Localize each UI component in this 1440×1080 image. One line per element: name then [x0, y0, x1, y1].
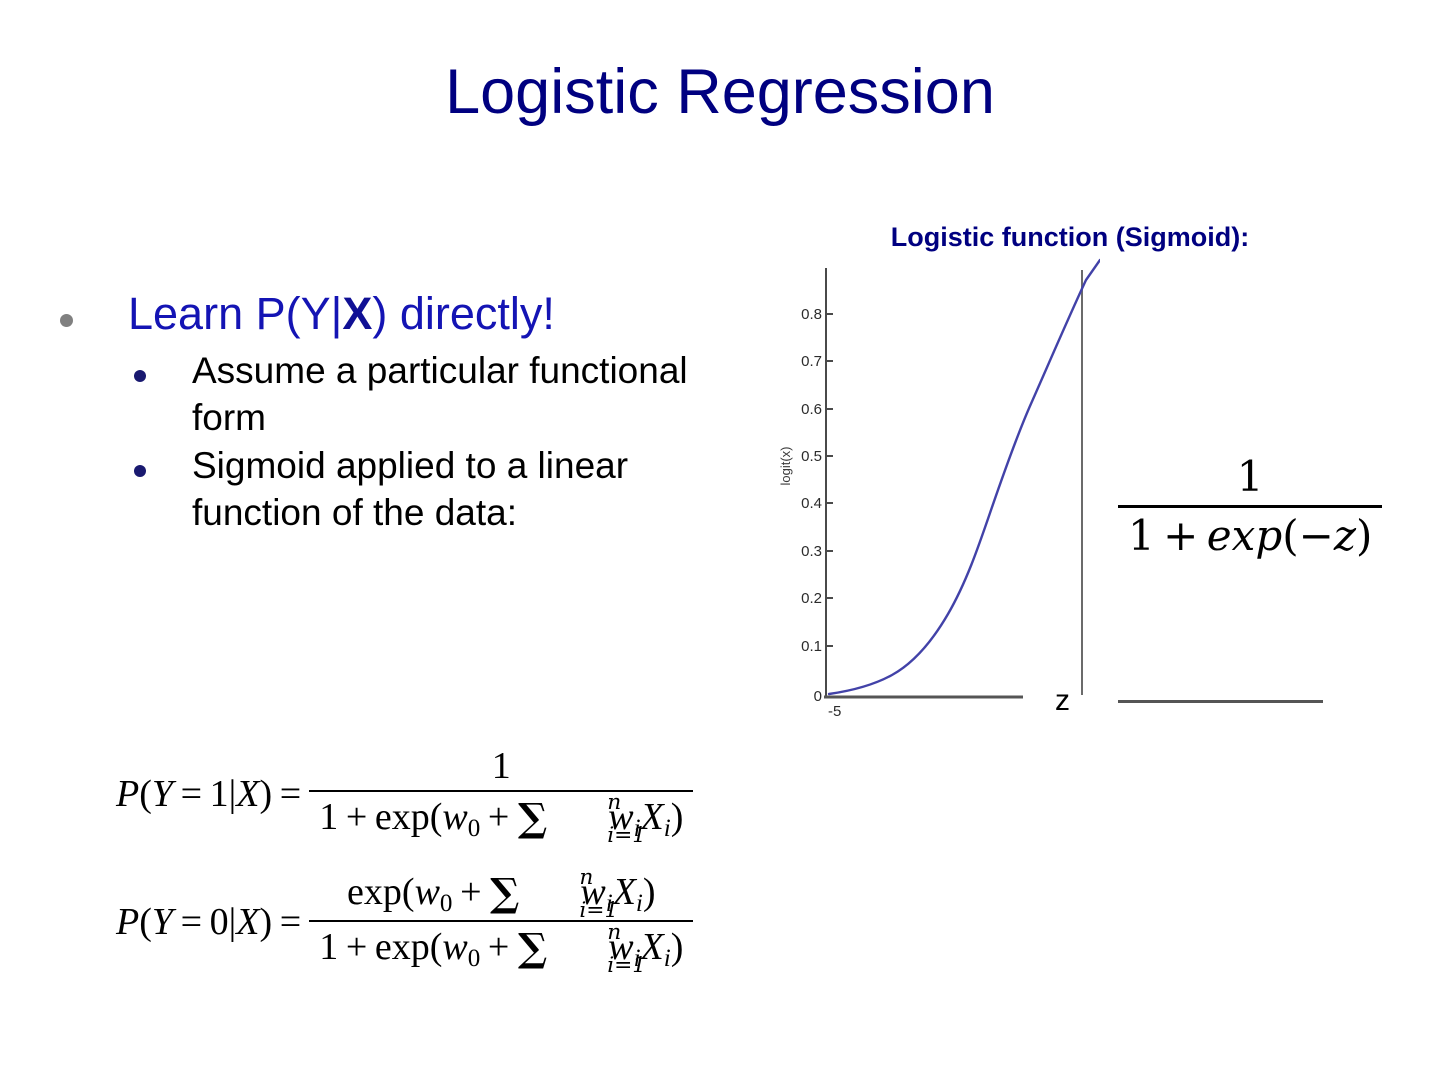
summation-icon: ∑ni=1 [518, 926, 607, 971]
slide-canvas: Logistic Regression Learn P(Y|X) directl… [0, 0, 1440, 1080]
equation-py1-fraction: 11 + exp(w0 + ∑ni=1wiXi) [309, 744, 693, 843]
den-exp: exp [1207, 511, 1282, 560]
list-item-level2-label: Assume a particular functional form [192, 350, 688, 438]
y-tick-label: 0.5 [801, 448, 822, 465]
y-tick-label: 0.2 [801, 590, 822, 607]
den-minus: − [1299, 511, 1334, 560]
sigmoid-chart-svg: logit(x) 0.8 0.7 0.6 0.5 0.4 0.3 0.2 0.1… [780, 258, 1100, 720]
summation-icon: ∑ni=1 [518, 796, 607, 841]
sigmoid-chart: logit(x) 0.8 0.7 0.6 0.5 0.4 0.3 0.2 0.1… [780, 258, 1100, 720]
page-title: Logistic Regression [0, 58, 1440, 126]
sigmoid-formula-denominator: 1 + exp(−z) [1118, 508, 1382, 560]
x-tick-label: -5 [828, 703, 841, 720]
level1-text-bold: X [342, 288, 372, 339]
equation-py0-numerator: exp(w0 + ∑ni=1wiXi) [309, 870, 693, 922]
y-tick-label: 0.3 [801, 543, 822, 560]
equation-py0-fraction: exp(w0 + ∑ni=1wiXi)1 + exp(w0 + ∑ni=1wiX… [309, 870, 693, 973]
sigmoid-formula-numerator: 1 [1118, 452, 1382, 508]
bullet-dot-icon [134, 465, 146, 477]
equation-py1-numerator: 1 [309, 744, 693, 792]
chart-heading: Logistic function (Sigmoid): [760, 222, 1380, 253]
equation-py1-lhs: P(Y = 1|X) = [116, 772, 309, 816]
level1-text-prefix: Learn P(Y| [128, 288, 342, 339]
y-axis-ticks [826, 314, 833, 646]
list-item-level1: Learn P(Y|X) directly! [44, 288, 744, 340]
y-tick-label: 0.4 [801, 495, 822, 512]
bullet-list: Learn P(Y|X) directly! Assume a particul… [44, 288, 744, 539]
y-tick-label: 0.7 [801, 353, 822, 370]
den-one: 1 [1128, 511, 1155, 560]
y-axis-label: logit(x) [780, 446, 793, 485]
den-z: z [1334, 511, 1356, 560]
equation-py1-denominator: 1 + exp(w0 + ∑ni=1wiXi) [309, 792, 693, 843]
equation-py0-lhs: P(Y = 0|X) = [116, 900, 309, 944]
summation-icon: ∑ni=1 [490, 871, 579, 916]
list-item-level2-label: Sigmoid applied to a linear function of … [192, 445, 628, 533]
den-close-paren: ) [1356, 511, 1372, 560]
level1-text-suffix: ) directly! [372, 288, 555, 339]
y-tick-label: 0 [814, 688, 822, 705]
formula-underline-rule [1118, 700, 1323, 703]
sigmoid-curve [829, 260, 1100, 694]
equation-py0-denominator: 1 + exp(w0 + ∑ni=1wiXi) [309, 922, 693, 973]
den-plus: + [1163, 511, 1198, 560]
bullet-dot-icon [60, 314, 73, 327]
y-tick-label: 0.1 [801, 638, 822, 655]
z-axis-label: z [1055, 684, 1070, 718]
bullet-dot-icon [134, 370, 146, 382]
sigmoid-formula-fraction: 11 + exp(−z) [1118, 452, 1382, 560]
list-item-level2: Sigmoid applied to a linear function of … [44, 443, 744, 536]
equation-p-y-equals-1: P(Y = 1|X) =11 + exp(w0 + ∑ni=1wiXi) [116, 744, 693, 843]
y-tick-label: 0.6 [801, 401, 822, 418]
list-item-level2: Assume a particular functional form [44, 348, 744, 441]
equation-p-y-equals-0: P(Y = 0|X) =exp(w0 + ∑ni=1wiXi)1 + exp(w… [116, 870, 693, 973]
y-tick-label: 0.8 [801, 306, 822, 323]
den-open-paren: ( [1282, 511, 1298, 560]
sigmoid-formula: 11 + exp(−z) [1118, 452, 1382, 560]
list-item-level1-label: Learn P(Y|X) directly! [128, 288, 555, 339]
y-axis-tick-labels: 0.8 0.7 0.6 0.5 0.4 0.3 0.2 0.1 0 [801, 306, 822, 705]
